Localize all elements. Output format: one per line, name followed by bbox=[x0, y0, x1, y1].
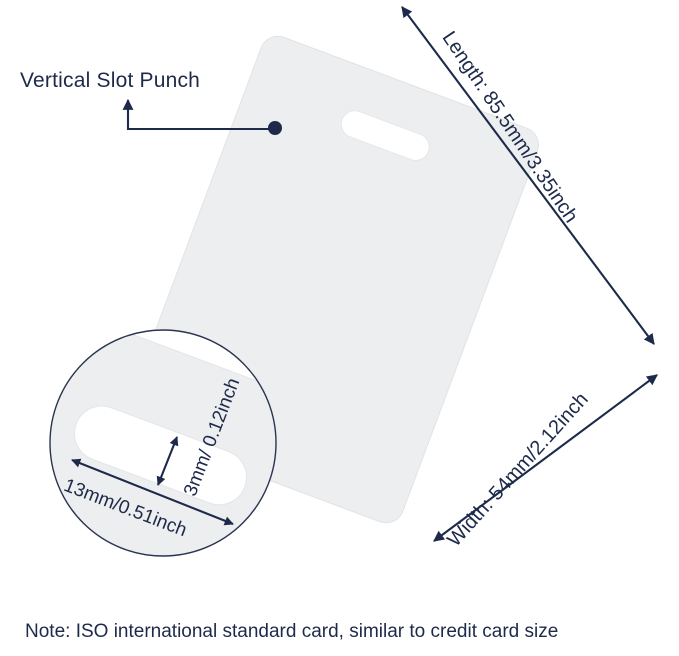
slot-anchor-dot bbox=[268, 121, 282, 135]
annotation-arrows-layer bbox=[0, 0, 679, 656]
diagram-canvas: Vertical Slot Punch Length: 85.5mm/3.35i… bbox=[0, 0, 679, 656]
slot-width-dimension-arrow bbox=[158, 437, 177, 485]
vertical-slot-punch-label: Vertical Slot Punch bbox=[20, 70, 200, 91]
length-dimension-arrow bbox=[402, 7, 654, 344]
iso-standard-note: Note: ISO international standard card, s… bbox=[25, 622, 558, 641]
callout-leader-line bbox=[128, 100, 272, 129]
